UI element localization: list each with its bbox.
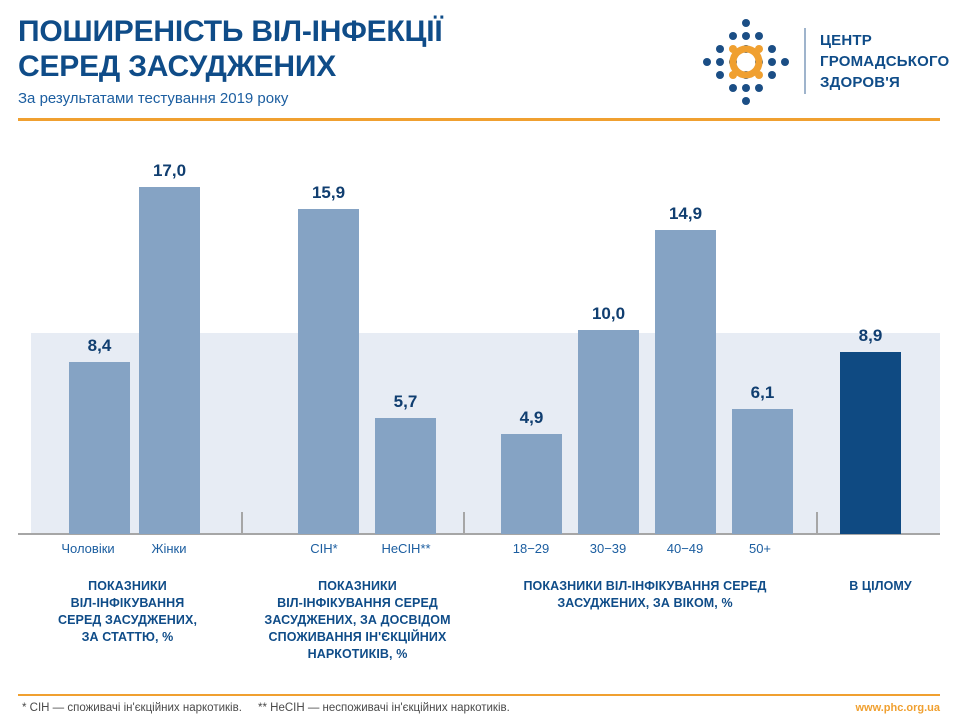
bar-age-50-plus[interactable]: 6,1 xyxy=(732,409,793,534)
category-label-50-plus: 50+ xyxy=(749,541,771,556)
bar-value-label: 6,1 xyxy=(751,383,775,403)
bar-value-label: 17,0 xyxy=(153,161,186,181)
category-label-30-39: 30−39 xyxy=(590,541,627,556)
category-label-choloviky: Чоловіки xyxy=(61,541,114,556)
caption-line: В ЦІЛОМУ xyxy=(818,578,943,595)
group-captions: ПОКАЗНИКИ ВІЛ-ІНФІКУВАННЯ СЕРЕД ЗАСУДЖЕН… xyxy=(0,578,960,678)
caption-line: СПОЖИВАННЯ ІН'ЄКЦІЙНИХ xyxy=(245,629,470,646)
footer-divider xyxy=(18,694,940,696)
bar-choloviky[interactable]: 8,4 xyxy=(69,362,130,534)
bar-age-30-39[interactable]: 10,0 xyxy=(578,330,639,534)
group-caption-drug-use: ПОКАЗНИКИ ВІЛ-ІНФІКУВАННЯ СЕРЕД ЗАСУДЖЕН… xyxy=(245,578,470,663)
group-caption-age: ПОКАЗНИКИ ВІЛ-ІНФІКУВАННЯ СЕРЕД ЗАСУДЖЕН… xyxy=(480,578,810,612)
logo-wordmark-line-2: ГРОМАДСЬКОГО xyxy=(820,51,949,72)
website-url[interactable]: www.phc.org.ua xyxy=(855,702,940,714)
category-label-sin: СІН* xyxy=(310,541,337,556)
bar-value-label: 5,7 xyxy=(394,392,418,412)
caption-line: ЗАСУДЖЕНИХ, ЗА ВІКОМ, % xyxy=(480,595,810,612)
page-subtitle: За результатами тестування 2019 року xyxy=(18,90,658,108)
bar-chart: 8,4 17,0 15,9 5,7 4,9 10,0 14,9 6,1 8,9 … xyxy=(0,121,960,541)
page-header: ПОШИРЕНІСТЬ ВІЛ-ІНФЕКЦІЇ СЕРЕД ЗАСУДЖЕНИ… xyxy=(0,0,960,120)
bar-value-label: 8,4 xyxy=(88,336,112,356)
bar-age-40-49[interactable]: 14,9 xyxy=(655,230,716,534)
caption-line: НАРКОТИКІВ, % xyxy=(245,646,470,663)
group-caption-total: В ЦІЛОМУ xyxy=(818,578,943,595)
category-label-40-49: 40−49 xyxy=(667,541,704,556)
caption-line: ПОКАЗНИКИ ВІЛ-ІНФІКУВАННЯ СЕРЕД xyxy=(480,578,810,595)
bar-value-label: 8,9 xyxy=(859,326,883,346)
group-separator-tick xyxy=(816,512,818,534)
bar-age-18-29[interactable]: 4,9 xyxy=(501,434,562,534)
category-label-zhinky: Жінки xyxy=(151,541,186,556)
logo-divider xyxy=(804,28,806,94)
group-separator-tick xyxy=(463,512,465,534)
bar-value-label: 4,9 xyxy=(520,408,544,428)
group-separator-tick xyxy=(241,512,243,534)
logo-wordmark-line-3: ЗДОРОВ'Я xyxy=(820,72,949,93)
caption-line: ВІЛ-ІНФІКУВАННЯ xyxy=(20,595,235,612)
footnote-sin: * СІН — споживачі ін'єкційних наркотиків… xyxy=(22,702,242,714)
page-title-line-1: ПОШИРЕНІСТЬ ВІЛ-ІНФЕКЦІЇ xyxy=(18,14,658,49)
bar-value-label: 15,9 xyxy=(312,183,345,203)
category-label-nesin: НеСІН** xyxy=(381,541,430,556)
bar-total[interactable]: 8,9 xyxy=(840,352,901,534)
caption-line: ЗАСУДЖЕНИХ, ЗА ДОСВІДОМ xyxy=(245,612,470,629)
footnote-nesin: ** НеСІН — неспоживачі ін'єкційних нарко… xyxy=(258,702,510,714)
logo-wordmark-line-1: ЦЕНТР xyxy=(820,30,949,51)
bar-nesin[interactable]: 5,7 xyxy=(375,418,436,534)
logo-wordmark: ЦЕНТР ГРОМАДСЬКОГО ЗДОРОВ'Я xyxy=(820,30,949,93)
organization-logo: ЦЕНТР ГРОМАДСЬКОГО ЗДОРОВ'Я xyxy=(700,16,945,106)
category-label-18-29: 18−29 xyxy=(513,541,550,556)
bar-value-label: 14,9 xyxy=(669,204,702,224)
bar-value-label: 10,0 xyxy=(592,304,625,324)
caption-line: ЗА СТАТТЮ, % xyxy=(20,629,235,646)
caption-line: СЕРЕД ЗАСУДЖЕНИХ, xyxy=(20,612,235,629)
bar-sin[interactable]: 15,9 xyxy=(298,209,359,534)
caption-line: ВІЛ-ІНФІКУВАННЯ СЕРЕД xyxy=(245,595,470,612)
bar-zhinky[interactable]: 17,0 xyxy=(139,187,200,534)
group-caption-sex: ПОКАЗНИКИ ВІЛ-ІНФІКУВАННЯ СЕРЕД ЗАСУДЖЕН… xyxy=(20,578,235,646)
page-title-line-2: СЕРЕД ЗАСУДЖЕНИХ xyxy=(18,49,658,84)
caption-line: ПОКАЗНИКИ xyxy=(20,578,235,595)
caption-line: ПОКАЗНИКИ xyxy=(245,578,470,595)
title-block: ПОШИРЕНІСТЬ ВІЛ-ІНФЕКЦІЇ СЕРЕД ЗАСУДЖЕНИ… xyxy=(18,14,658,108)
phc-logo-icon xyxy=(700,16,792,108)
